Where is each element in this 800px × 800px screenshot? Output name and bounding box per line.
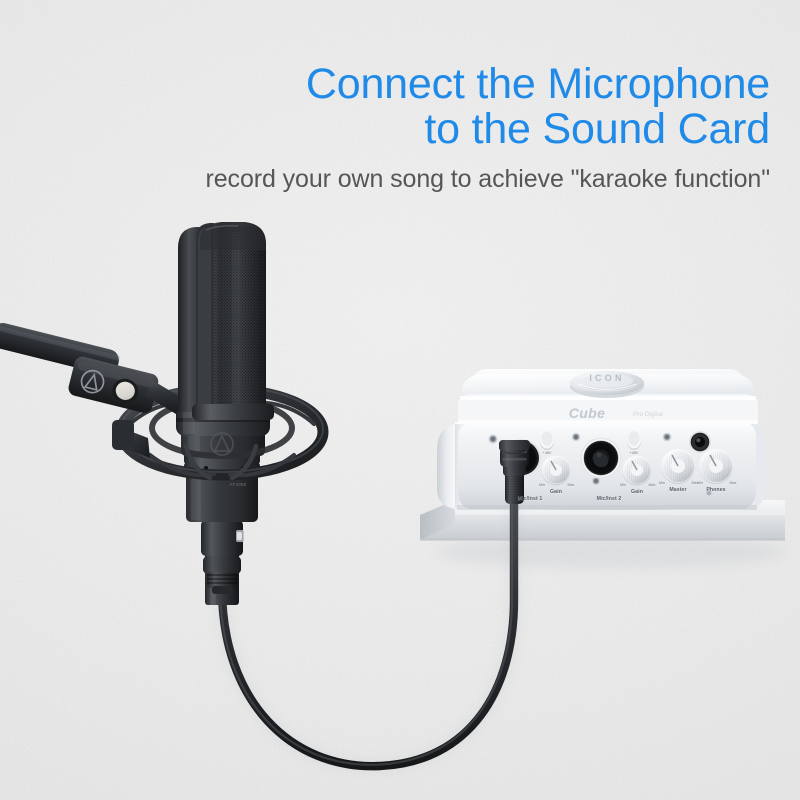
gain-2-min-label: Min <box>620 482 626 488</box>
subtitle-text: record your own song to achieve "karaoke… <box>40 164 770 194</box>
brand-cube-face: Cube <box>569 405 606 421</box>
master-knob <box>661 450 695 485</box>
phones-min-label: Min <box>697 480 703 486</box>
microphone <box>0 222 323 605</box>
gain-2-knob <box>623 456 652 486</box>
gain-2-label: Gain <box>631 489 643 495</box>
brand-icon-top: ICON <box>589 373 624 383</box>
mic-body-label: AT4050 <box>229 482 246 487</box>
gain-1-knob <box>542 456 571 486</box>
headline-line-1: Connect the Microphone <box>60 62 770 107</box>
mic-inst-1-label: Mic/Inst 1 <box>518 496 543 502</box>
headphone-jack <box>689 431 711 453</box>
gain-1-label: Gain <box>550 489 562 495</box>
headline-block: Connect the Microphone to the Sound Card <box>60 62 770 152</box>
phones-knob <box>699 450 733 485</box>
brand-cube-subtitle: Pro Digital <box>633 412 663 418</box>
phantom-power-1-button <box>540 431 554 451</box>
master-label: Master <box>669 487 686 493</box>
mic-inst-2-label: Mic/Inst 2 <box>597 496 622 502</box>
gain-1-max-label: Max <box>567 482 574 488</box>
phantom-power-2-button <box>627 431 641 451</box>
mic-grille <box>178 222 274 420</box>
phones-max-label: Max <box>729 480 736 486</box>
gain-1-min-label: Min <box>539 482 545 488</box>
promo-banner: Connect the Microphone to the Sound Card… <box>0 0 800 800</box>
headline-line-2: to the Sound Card <box>60 107 770 152</box>
phantom-power-2-label: +48V <box>630 450 639 456</box>
master-min-label: Min <box>659 480 665 486</box>
gain-2-max-label: Max <box>648 482 655 488</box>
boom-arm <box>0 321 182 415</box>
phones-label: Phones <box>706 487 725 493</box>
mic-inst-2-jack <box>581 438 622 479</box>
phantom-power-1-label: +48V <box>543 450 552 456</box>
